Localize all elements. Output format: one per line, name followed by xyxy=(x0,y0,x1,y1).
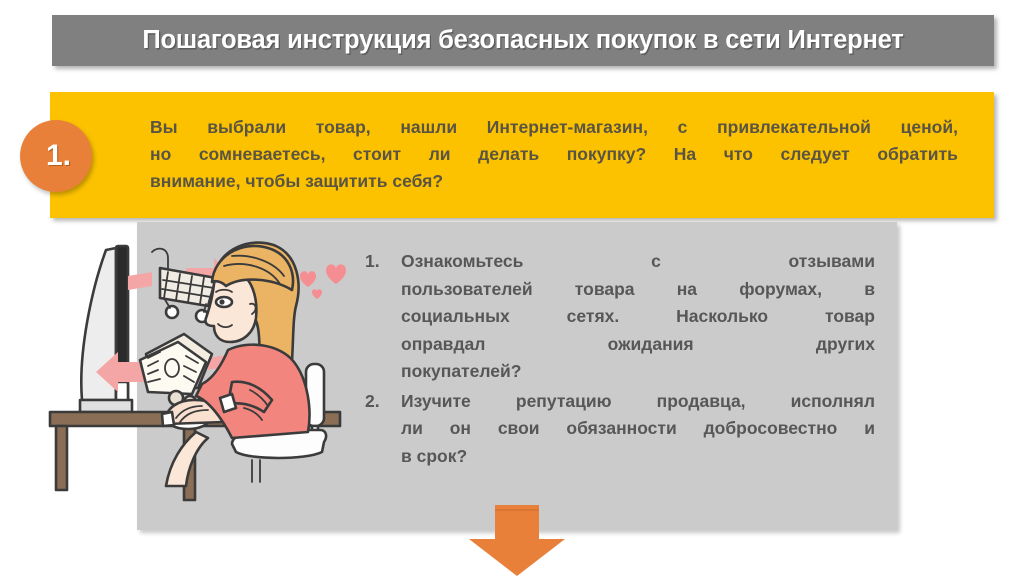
down-arrow-icon xyxy=(455,505,579,576)
step-description-banner: Вы выбрали товар, нашли Интернет-магазин… xyxy=(50,92,994,218)
advice-line: Ознакомьтесьсотзывами xyxy=(401,248,875,276)
advice-item-number: 2. xyxy=(365,388,401,471)
word: но xyxy=(150,141,171,168)
shopping-cart-icon xyxy=(152,249,216,322)
advice-list: 1.Ознакомьтесьсотзывамипользователейтова… xyxy=(365,248,875,472)
word: с xyxy=(651,248,661,276)
advice-list-item: 1.Ознакомьтесьсотзывамипользователейтова… xyxy=(365,248,875,386)
pink-hearts-icon xyxy=(300,264,346,299)
advice-line: в срок? xyxy=(401,443,875,471)
word: сетях. xyxy=(567,303,620,331)
word: других xyxy=(816,331,875,359)
word: и xyxy=(864,415,875,443)
word: с xyxy=(678,114,688,141)
word: обязанности xyxy=(566,415,676,443)
advice-item-number: 1. xyxy=(365,248,401,386)
step-line-1: Вы выбрали товар, нашли Интернет-магазин… xyxy=(150,114,958,141)
slide-title-bar: Пошаговая инструкция безопасных покупок … xyxy=(52,15,994,66)
word: выбрали xyxy=(207,114,286,141)
word: ожидания xyxy=(608,331,694,359)
step-description-text: Вы выбрали товар, нашли Интернет-магазин… xyxy=(150,114,958,195)
word: исполнял xyxy=(791,388,875,416)
word: стоит xyxy=(353,141,401,168)
advice-line: социальныхсетях.Насколькотовар xyxy=(401,303,875,331)
step-line-3: внимание, чтобы защитить себя? xyxy=(150,168,958,195)
word: нашли xyxy=(400,114,457,141)
word: свои xyxy=(498,415,540,443)
word: продавца, xyxy=(657,388,746,416)
word: что xyxy=(724,141,753,168)
word: ли xyxy=(401,415,423,443)
step-line-2: но сомневаетесь, стоит ли делать покупку… xyxy=(150,141,958,168)
word: товара xyxy=(575,276,635,304)
advice-line: покупателей? xyxy=(401,358,875,386)
word: оправдал xyxy=(401,331,485,359)
down-arrow xyxy=(455,505,579,576)
step-number-label: 1. xyxy=(41,141,71,171)
word: следует xyxy=(781,141,850,168)
word: Ознакомьтесь xyxy=(401,248,523,276)
advice-list-item: 2.Изучитерепутациюпродавца,исполняллионс… xyxy=(365,388,875,471)
advice-line: Изучитерепутациюпродавца,исполнял xyxy=(401,388,875,416)
advice-item-text: Ознакомьтесьсотзывамипользователейтовара… xyxy=(401,248,875,386)
advice-line: пользователейтоваранафорумах,в xyxy=(401,276,875,304)
word: Вы xyxy=(150,114,178,141)
word: сомневаетесь, xyxy=(199,141,326,168)
word: отзывами xyxy=(789,248,875,276)
computer-monitor-icon xyxy=(80,246,132,412)
word: делать xyxy=(478,141,539,168)
word: товар xyxy=(825,303,875,331)
word: Насколько xyxy=(676,303,768,331)
illustration-svg: .ol { stroke:#3b3b3b; stroke-width:2.6; … xyxy=(36,232,376,532)
advice-item-text: Изучитерепутациюпродавца,исполняллионсво… xyxy=(401,388,875,471)
word: Изучите xyxy=(401,388,471,416)
word: На xyxy=(674,141,696,168)
word: добросовестно xyxy=(704,415,838,443)
advice-line: оправдаложиданиядругих xyxy=(401,331,875,359)
step-number-badge: 1. xyxy=(20,120,92,192)
word: ли xyxy=(429,141,451,168)
word: на xyxy=(677,276,697,304)
word: репутацию xyxy=(516,388,612,416)
word: ценой, xyxy=(901,114,958,141)
word: товар, xyxy=(316,114,371,141)
word: форумах, xyxy=(739,276,822,304)
word: покупку? xyxy=(567,141,647,168)
woman-shopping-online-illustration: .ol { stroke:#3b3b3b; stroke-width:2.6; … xyxy=(36,232,376,532)
word: он xyxy=(450,415,471,443)
word: пользователей xyxy=(401,276,533,304)
word: Интернет-магазин, xyxy=(487,114,648,141)
advice-line: лионсвоиобязанностидобросовестнои xyxy=(401,415,875,443)
word: в xyxy=(864,276,875,304)
word: обратить xyxy=(877,141,958,168)
word: привлекательной xyxy=(717,114,871,141)
word: социальных xyxy=(401,303,510,331)
page-title: Пошаговая инструкция безопасных покупок … xyxy=(142,26,903,55)
